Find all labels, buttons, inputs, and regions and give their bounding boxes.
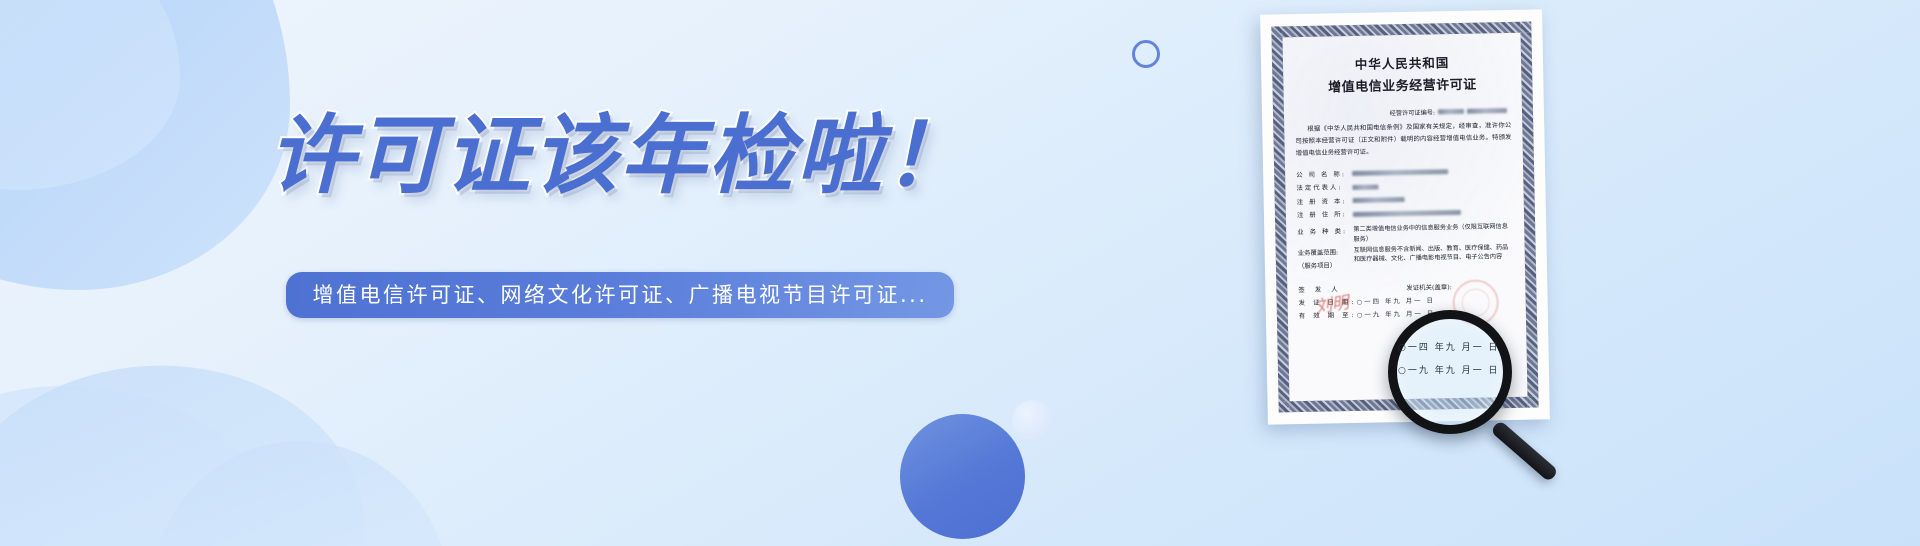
field-label-company: 公 司 名 称:	[1296, 168, 1352, 182]
issuer-label: 发证机关(盖章):	[1406, 282, 1452, 292]
certificate-number-redacted-b	[1467, 108, 1507, 114]
certificate-content: 中华人民共和国 增值电信业务经营许可证 经营许可证编号: 根据《中华人民共和国电…	[1283, 33, 1526, 325]
headline-container: 许可证该年检啦！	[0, 110, 1240, 203]
field-label-address: 注 册 住 所:	[1297, 208, 1353, 222]
magnifier-handle	[1490, 420, 1559, 482]
certificate-number-label: 经营许可证编号:	[1390, 107, 1436, 117]
issue-date-value: ○一四 年九 月一 日	[1357, 295, 1436, 306]
field-value-business-scope: 互联网信息服务不含新闻、出版、教育、医疗保健、药品和医疗器械、文化、广播电影电视…	[1354, 243, 1514, 265]
field-label-business-type: 业 务 种 类:	[1297, 225, 1353, 239]
business-scope-sublabel: （服务项目）	[1298, 261, 1336, 270]
certificate-signature-row: 签 发 人 发证机关(盖章): 刘明	[1298, 281, 1514, 294]
certificate-title-main: 增值电信业务经营许可证	[1294, 73, 1510, 96]
decor-pale-circle	[1012, 400, 1054, 442]
certificate-field-address: 注 册 住 所:	[1297, 205, 1513, 223]
field-label-capital: 注 册 资 本:	[1297, 195, 1353, 209]
business-scope-label: 业务覆盖范围:	[1298, 248, 1339, 257]
decor-wave-front	[0, 352, 367, 546]
decor-wave-right	[150, 441, 450, 546]
field-label-legal-rep: 法定代表人:	[1296, 181, 1352, 195]
field-label-business-scope: 业务覆盖范围: （服务项目）	[1298, 246, 1354, 272]
decor-blue-circle	[900, 414, 1025, 539]
certificate-fields: 公 司 名 称: 法定代表人: 注 册 资 本: 注 册 住 所:	[1296, 164, 1514, 272]
magnifier-icon	[1388, 310, 1512, 434]
decor-wave-back	[0, 375, 296, 546]
page-title: 许可证该年检啦！	[268, 110, 972, 203]
decor-ring-icon	[1132, 40, 1160, 68]
certificate-title-country: 中华人民共和国	[1294, 51, 1510, 74]
field-value-business-type: 第二类增值电信业务中的信息服务业务（仅限互联网信息服务）	[1353, 222, 1513, 244]
certificate-field-business-scope: 业务覆盖范围: （服务项目） 互联网信息服务不含新闻、出版、教育、医疗保健、药品…	[1298, 243, 1514, 272]
certificate-body-text: 根据《中华人民共和国电信条例》及国家有关规定，经审查，准许你公司按照本经营许可证…	[1295, 120, 1512, 160]
field-value-address	[1353, 206, 1513, 222]
signature-handwriting: 刘明	[1313, 288, 1351, 318]
license-types-badge[interactable]: 增值电信许可证、网络文化许可证、广播电视节目许可证...	[286, 272, 953, 318]
certificate-field-business-type: 业 务 种 类: 第二类增值电信业务中的信息服务业务（仅限互联网信息服务）	[1297, 222, 1513, 245]
certificate-number-redacted-a	[1438, 109, 1464, 114]
certificate-number-row: 经营许可证编号:	[1295, 106, 1511, 119]
promo-banner: 许可证该年检啦！ 增值电信许可证、网络文化许可证、广播电视节目许可证... 中华…	[0, 0, 1920, 546]
subtitle-container: 增值电信许可证、网络文化许可证、广播电视节目许可证...	[0, 272, 1240, 318]
